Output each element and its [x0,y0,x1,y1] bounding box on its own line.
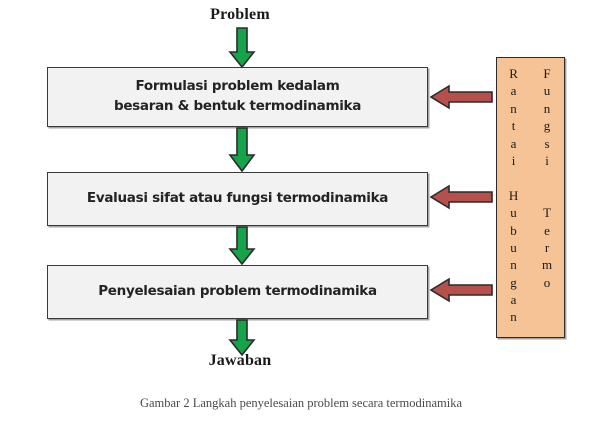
vertical-char: a [511,135,517,152]
process-box-step-3[interactable]: Penyelesaian problem termodinamika [47,265,428,319]
vertical-char: H [509,187,518,204]
vertical-char: F [543,65,550,82]
vertical-char: u [510,204,517,221]
arrow-down-icon [228,27,256,69]
vertical-char: g [510,274,517,291]
process-box-step-3-text: Penyelesaian problem termodinamika [90,282,385,302]
vertical-char: a [511,291,517,308]
vertical-char: T [543,204,551,221]
vertical-char: i [545,152,549,169]
vertical-char: n [544,100,551,117]
vertical-char: b [510,222,517,239]
vertical-char: n [510,256,517,273]
vertical-char: i [512,152,516,169]
process-box-step-2[interactable]: Evaluasi sifat atau fungsi termodinamika [47,172,428,226]
arrow-left-icon [430,184,493,210]
arrow-down-icon [228,127,256,173]
vertical-char: u [510,239,517,256]
vertical-char: a [511,82,517,99]
vertical-char: s [545,135,550,152]
process-box-step-2-text: Evaluasi sifat atau fungsi termodinamika [79,189,396,209]
flow-end-label: Jawaban [160,352,320,370]
vertical-char: t [512,117,516,134]
arrow-left-icon [430,277,493,303]
vertical-char: e [544,222,550,239]
vertical-char: g [544,117,551,134]
process-box-step-1-text: Formulasi problem kedalam besaran & bent… [106,77,369,116]
vertical-char: u [544,82,551,99]
vertical-char: n [510,308,517,325]
figure-caption: Gambar 2 Langkah penyelesaian problem se… [0,396,602,411]
process-box-step-1-line-2: besaran & bentuk termodinamika [114,98,361,114]
side-panel-column-fungsi-termo: Fungsi Termo [542,65,552,337]
arrow-down-icon [228,226,256,266]
figure-canvas: Problem Formulasi problem kedalam besara… [0,0,602,427]
side-panel: Rantai Hubungan Fungsi Termo [496,57,565,338]
process-box-step-2-line-1: Evaluasi sifat atau fungsi termodinamika [87,190,388,206]
arrow-left-icon [430,84,493,110]
process-box-step-3-line-1: Penyelesaian problem termodinamika [98,283,377,299]
side-panel-column-rantai-hubungan: Rantai Hubungan [509,65,518,337]
vertical-char: r [545,239,549,256]
vertical-char: n [510,100,517,117]
vertical-char: m [542,256,552,273]
vertical-char: R [509,65,518,82]
vertical-char: o [544,274,551,291]
flow-start-label: Problem [160,6,320,24]
process-box-step-1[interactable]: Formulasi problem kedalam besaran & bent… [47,67,428,127]
process-box-step-1-line-1: Formulasi problem kedalam [135,78,339,94]
